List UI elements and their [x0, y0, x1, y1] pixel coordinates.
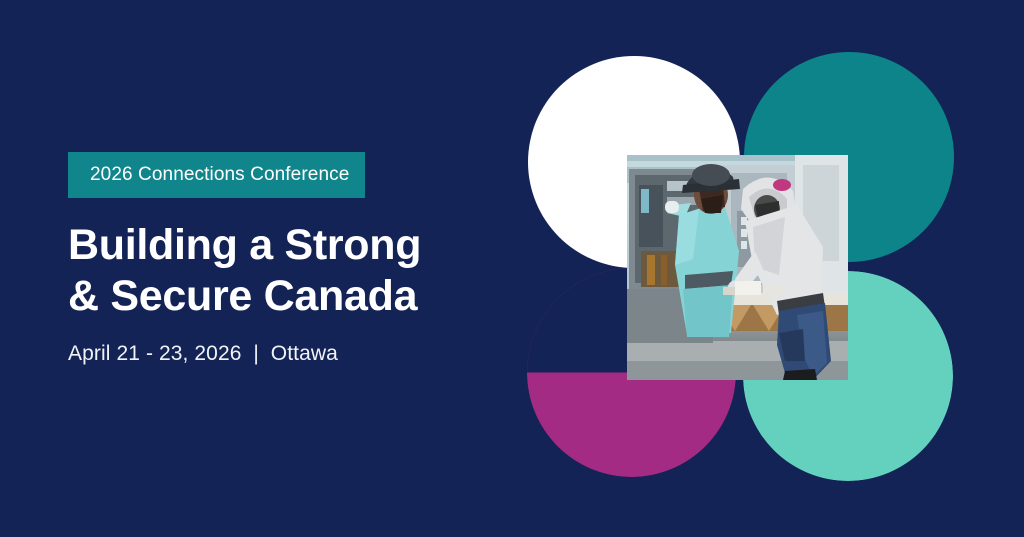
page-title: Building a Strong & Secure Canada: [68, 220, 498, 321]
banner-text-block: 2026 Connections Conference Building a S…: [68, 152, 498, 367]
conference-banner: 2026 Connections Conference Building a S…: [0, 0, 1024, 537]
conference-eyebrow-badge: 2026 Connections Conference: [68, 152, 365, 198]
event-date-location: April 21 - 23, 2026 | Ottawa: [68, 341, 498, 366]
conference-photo: [627, 155, 848, 380]
